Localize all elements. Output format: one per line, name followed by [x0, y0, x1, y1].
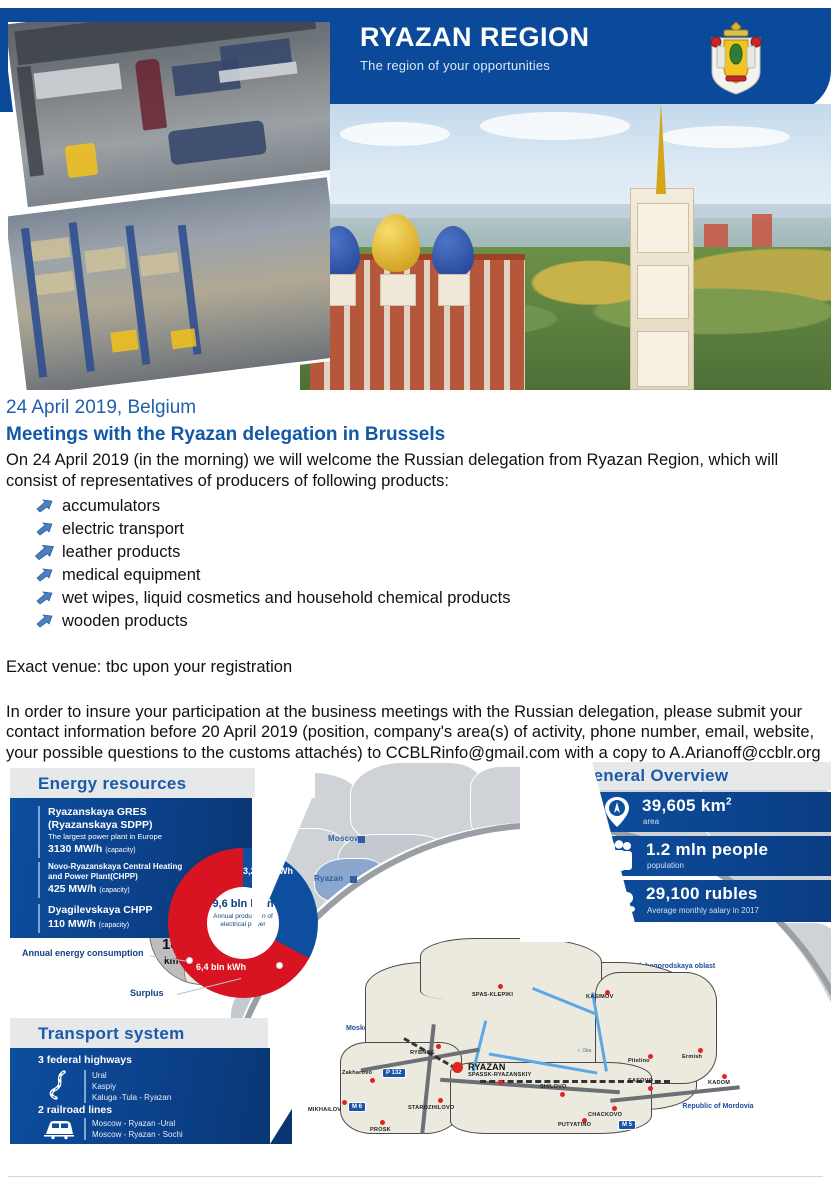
dome-drum: [438, 274, 470, 306]
map-city-chackovo: CHACKOVO: [588, 1112, 622, 1118]
map-city-ryazan: RYAZAN: [468, 1062, 506, 1072]
article-date: 24 April 2019, Belgium: [6, 396, 828, 420]
donut-center-label: Annual production of electrical power: [203, 913, 283, 929]
map-city-spas-klepiki: SPAS-KLEPIKI: [472, 992, 513, 998]
plant-name: Ryazanskaya GRES: [48, 806, 238, 819]
product-label: leather products: [62, 543, 180, 561]
map-label-moscow: Moscow: [328, 834, 361, 843]
overview-value-population: 1.2 mln people: [646, 840, 768, 860]
bell-tower: [630, 188, 694, 390]
road-shield-m5: M 5: [618, 1120, 636, 1130]
brand-block: RYAZAN REGION The region of your opportu…: [360, 24, 660, 73]
arrow-bullet-icon: [36, 590, 54, 606]
energy-panel-title: Energy resources: [38, 774, 186, 794]
cloud: [480, 112, 630, 140]
power-plant-1: Ryazanskaya GRES (Ryazanskaya SDPP) The …: [38, 806, 238, 858]
list-item: medical equipment: [6, 564, 828, 587]
bottom-divider: [8, 1176, 823, 1177]
train-icon: [42, 1118, 76, 1140]
highway-3: Kaluga -Tula - Ryazan: [92, 1092, 171, 1103]
plant-capacity-unit: (capacity): [99, 887, 129, 894]
product-label: electric transport: [62, 520, 184, 538]
product-label: wooden products: [62, 612, 188, 630]
energy-panel-header: Energy resources: [10, 768, 275, 798]
plant-note: The largest power plant in Europe: [48, 832, 238, 842]
map-city-sasovo: SASOVO: [628, 1078, 653, 1084]
overview-row-population: 1.2 mln people population: [590, 836, 831, 876]
overview-row-area: 39,605 km2 area: [590, 792, 831, 832]
plant-capacity-unit: (capacity): [99, 922, 129, 929]
plant-capacity: 425 MW/h: [48, 883, 96, 895]
plant-capacity: 3130 MW/h: [48, 843, 102, 855]
map-city-putyatino: PUTYATINO: [558, 1122, 591, 1128]
rail-2: Moscow - Ryazan - Sochi: [92, 1129, 183, 1140]
arrow-bullet-icon: [36, 521, 54, 537]
arrow-bullet-icon: [36, 567, 54, 583]
map-city-ermish: Ermish: [682, 1054, 702, 1060]
overview-sup-area: 2: [726, 796, 732, 807]
overview-value-area: 39,605 km: [642, 796, 726, 815]
infographic: Moscow Ryazan Vladimir oblast Nizhegorod…: [0, 762, 831, 1162]
plant-capacity-unit: (capacity): [105, 847, 135, 854]
donut-label-consumption-value: 6,4 bln kWh: [196, 962, 246, 972]
map-city-rybnoe: RYBNOE: [410, 1050, 435, 1056]
road-shield-m6: M 6: [348, 1102, 366, 1112]
map-city-prosk: PROSK: [370, 1127, 391, 1133]
overview-sub-population: population: [647, 861, 684, 870]
cloud: [340, 122, 450, 146]
caption-annual-consumption: Annual energy consumption: [22, 948, 144, 958]
overview-value-salary: 29,100 rubles: [646, 884, 758, 904]
transport-panel-header: Transport system: [10, 1018, 275, 1048]
dome-drum: [380, 274, 416, 306]
plant-name-2: (Ryazanskaya SDPP): [48, 819, 238, 832]
photo-ryazan-kremlin: [300, 104, 831, 390]
map-label-mordovia: Republic of Mordovia: [682, 1102, 754, 1111]
highways-heading: 3 federal highways: [38, 1054, 132, 1066]
caption-surplus: Surplus: [130, 988, 164, 998]
overview-sub-salary: Average monthly salary in 2017: [647, 906, 759, 915]
article-registration: In order to insure your participation at…: [6, 702, 828, 764]
list-item: electric transport: [6, 518, 828, 541]
plant-capacity: 110 MW/h: [48, 918, 96, 930]
article-intro: On 24 April 2019 (in the morning) we wil…: [6, 450, 828, 491]
transport-head-mask: [268, 1018, 328, 1048]
map-city-starozhilovo: STAROZHILOVO: [408, 1105, 454, 1111]
rail-1: Moscow - Ryazan -Ural: [92, 1118, 183, 1129]
product-list: accumulators electric transport leather …: [6, 495, 828, 633]
article-venue: Exact venue: tbc upon your registration: [6, 657, 828, 678]
map-city-zakharovo: Zakharovo: [342, 1070, 372, 1076]
river-label-oka: r. Oka: [578, 1048, 591, 1054]
map-city-mikhailov: MIKHAILOV: [308, 1107, 341, 1113]
transport-panel-title: Transport system: [38, 1024, 185, 1044]
list-item: wooden products: [6, 610, 828, 633]
coat-of-arms-icon: [700, 18, 772, 96]
overview-sub-area: area: [643, 817, 659, 826]
highway-icon: [44, 1070, 74, 1100]
spire: [656, 104, 666, 194]
list-item: leather products: [6, 541, 828, 564]
highway-1: Ural: [92, 1070, 171, 1081]
product-label: medical equipment: [62, 566, 201, 584]
donut-center: 9,6 bln kWh Annual production of electri…: [203, 898, 283, 929]
brand-title: RYAZAN REGION: [360, 24, 660, 51]
article: 24 April 2019, Belgium Meetings with the…: [6, 396, 828, 763]
photo-collage: [8, 22, 330, 390]
rail-heading: 2 railroad lines: [38, 1104, 112, 1116]
arrow-bullet-icon: [36, 498, 54, 514]
energy-head-mask: [255, 762, 315, 798]
map-city-pitelino: Pitelino: [628, 1058, 650, 1064]
product-label: accumulators: [62, 497, 160, 515]
map-city-spassk-ryazanskiy: SPASSK-RYAZANSKIY: [468, 1072, 532, 1078]
article-headline: Meetings with the Ryazan delegation in B…: [6, 422, 828, 448]
list-item: accumulators: [6, 495, 828, 518]
map-city-shilovo: SHILOVO: [540, 1084, 567, 1090]
cloud: [660, 126, 790, 148]
product-label: wet wipes, liquid cosmetics and househol…: [62, 589, 510, 607]
list-item: wet wipes, liquid cosmetics and househol…: [6, 587, 828, 610]
donut-center-value: 9,6 bln kWh: [203, 898, 283, 911]
transport-panel-body: 3 federal highways Ural Kaspiy Kaluga -T…: [10, 1048, 292, 1144]
map-city-kasimov: KASIMOV: [586, 994, 614, 1000]
arrow-bullet-icon: [36, 613, 54, 629]
overview-panel-title: General Overview: [580, 766, 728, 786]
map-label-ryazan-overview: Ryazan: [314, 874, 343, 883]
highway-2: Kaspiy: [92, 1081, 171, 1092]
road-shield-p132: P 132: [382, 1068, 406, 1078]
hero-banner: RYAZAN REGION The region of your opportu…: [0, 0, 831, 390]
brand-tagline: The region of your opportunities: [360, 58, 660, 73]
map-city-kadom: KADOM: [708, 1080, 730, 1086]
arrow-bullet-icon: [34, 543, 56, 562]
